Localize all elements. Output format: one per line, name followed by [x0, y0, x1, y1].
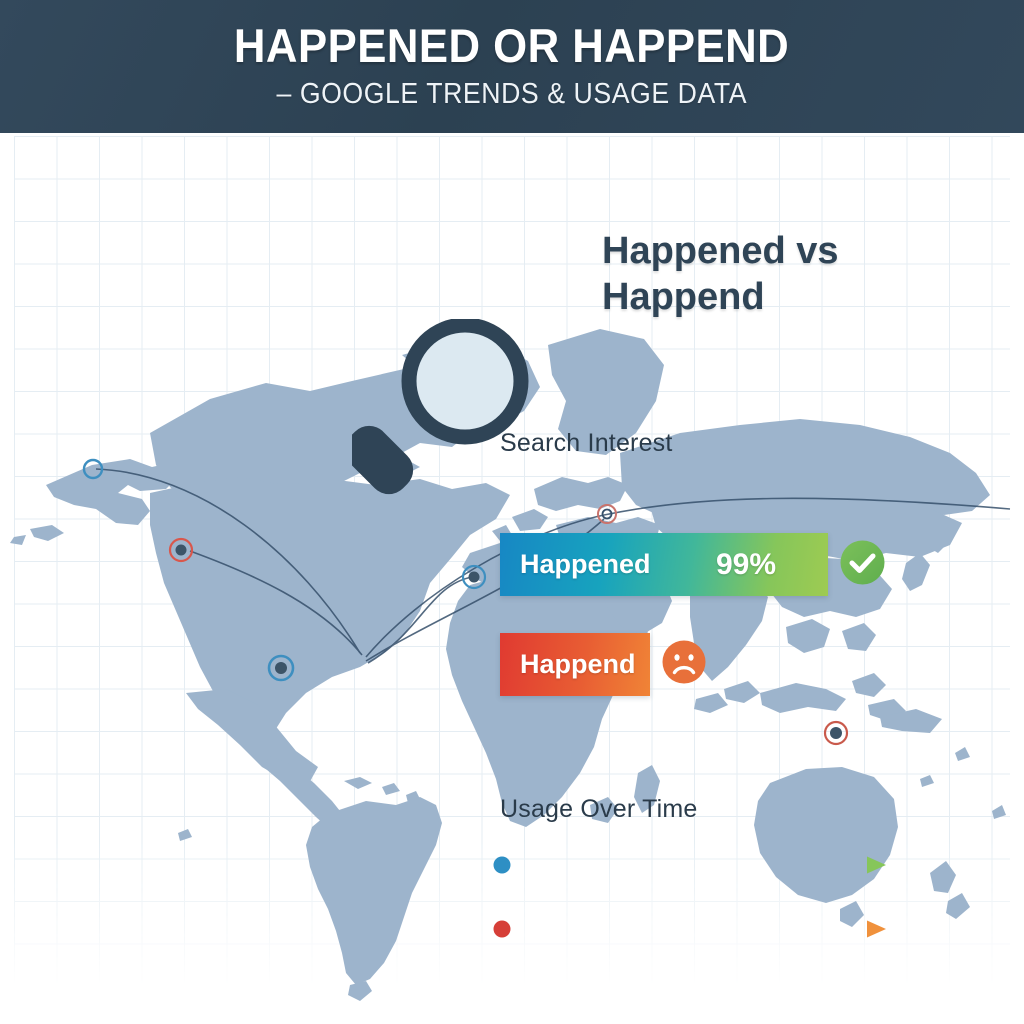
happened-trend-start-dot [494, 857, 511, 874]
usage-over-time-label: Usage Over Time [500, 795, 698, 824]
happened-trend-arrow [494, 857, 887, 874]
search-interest-label: Search Interest [500, 429, 673, 458]
infographic-canvas: HAPPENED OR HAPPEND – GOOGLE TRENDS & US… [0, 0, 1024, 1024]
bar-happened-label: Happened [500, 549, 651, 580]
happend-trend-arrowhead [867, 921, 886, 938]
bar-happend-label: Happend [500, 649, 636, 680]
magnifier-handle [352, 418, 421, 501]
content-area: Happened vs Happend Search Interest Happ… [0, 133, 1024, 1024]
usage-timeline [492, 843, 902, 953]
page-subtitle: – GOOGLE TRENDS & USAGE DATA [277, 78, 748, 111]
magnifier-icon [352, 319, 552, 501]
hero-headline: Happened vs Happend [602, 229, 932, 320]
bar-happend: Happend [500, 633, 650, 696]
marker-south-america-dot [275, 662, 287, 674]
magnifier-lens [409, 325, 521, 437]
happend-trend-start-dot [494, 921, 511, 938]
marker-west-africa-dot [469, 572, 480, 583]
page-title: HAPPENED OR HAPPEND [234, 22, 789, 69]
happened-trend-arrowhead [867, 857, 886, 874]
bar-happened: Happened 99% [500, 533, 828, 596]
header-banner: HAPPENED OR HAPPEND – GOOGLE TRENDS & US… [0, 0, 1024, 133]
bar-row-happend: Happend [500, 633, 706, 696]
sad-face-icon [662, 640, 706, 689]
check-circle-icon [840, 540, 885, 590]
marker-west-usa-dot [176, 545, 187, 556]
bar-happened-value: 99% [716, 548, 828, 582]
bar-row-happened: Happened 99% [500, 533, 885, 596]
marker-australia-dot [830, 727, 842, 739]
happend-trend-arrow [494, 921, 887, 938]
